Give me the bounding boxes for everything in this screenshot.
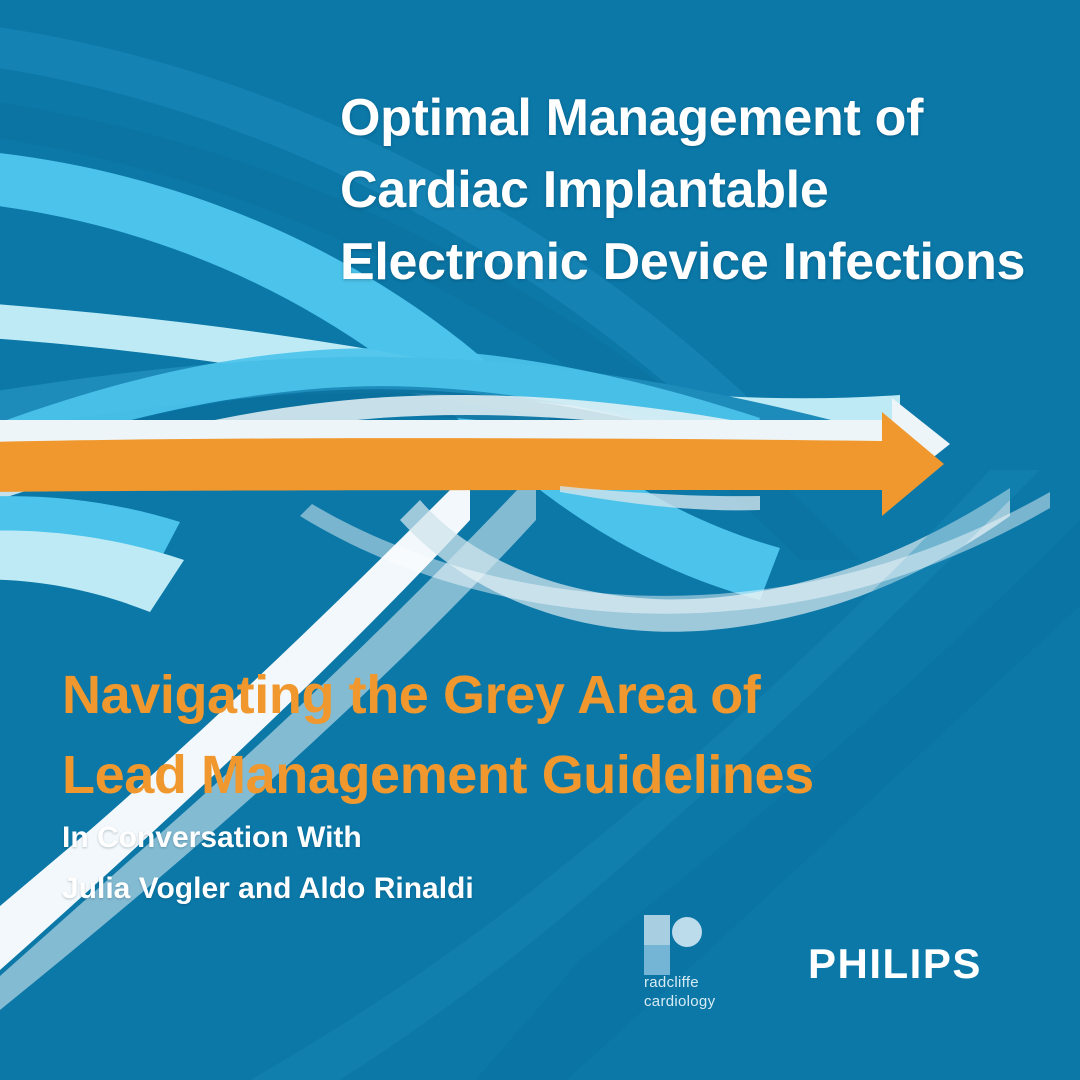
radcliffe-circle-icon — [672, 917, 702, 947]
title-card: Optimal Management of Cardiac Implantabl… — [0, 0, 1080, 1080]
title-line-3: Electronic Device Infections — [340, 226, 1040, 298]
title-line-2: Cardiac Implantable — [340, 154, 1040, 226]
radcliffe-square-top-icon — [644, 915, 670, 945]
logo-row: radcliffe cardiology PHILIPS — [640, 915, 1040, 1035]
credits-speakers: Julia Vogler and Aldo Rinaldi — [62, 863, 474, 914]
title-line-1: Optimal Management of — [340, 82, 1040, 154]
radcliffe-mark-icon — [644, 915, 716, 973]
radcliffe-wordmark-line-1: radcliffe — [644, 973, 770, 992]
credits-intro: In Conversation With — [62, 812, 474, 863]
radcliffe-square-bottom-icon — [644, 945, 670, 975]
headline-line-2: Lead Management Guidelines — [62, 735, 992, 815]
philips-logo: PHILIPS — [808, 941, 982, 987]
radcliffe-cardiology-logo: radcliffe cardiology — [640, 915, 770, 1011]
radcliffe-wordmark-line-2: cardiology — [644, 992, 770, 1011]
credits: In Conversation With Julia Vogler and Al… — [62, 812, 474, 914]
headline-line-1: Navigating the Grey Area of — [62, 655, 992, 735]
page-title: Optimal Management of Cardiac Implantabl… — [340, 82, 1040, 298]
headline: Navigating the Grey Area of Lead Managem… — [62, 655, 992, 815]
philips-wordmark: PHILIPS — [808, 941, 982, 987]
